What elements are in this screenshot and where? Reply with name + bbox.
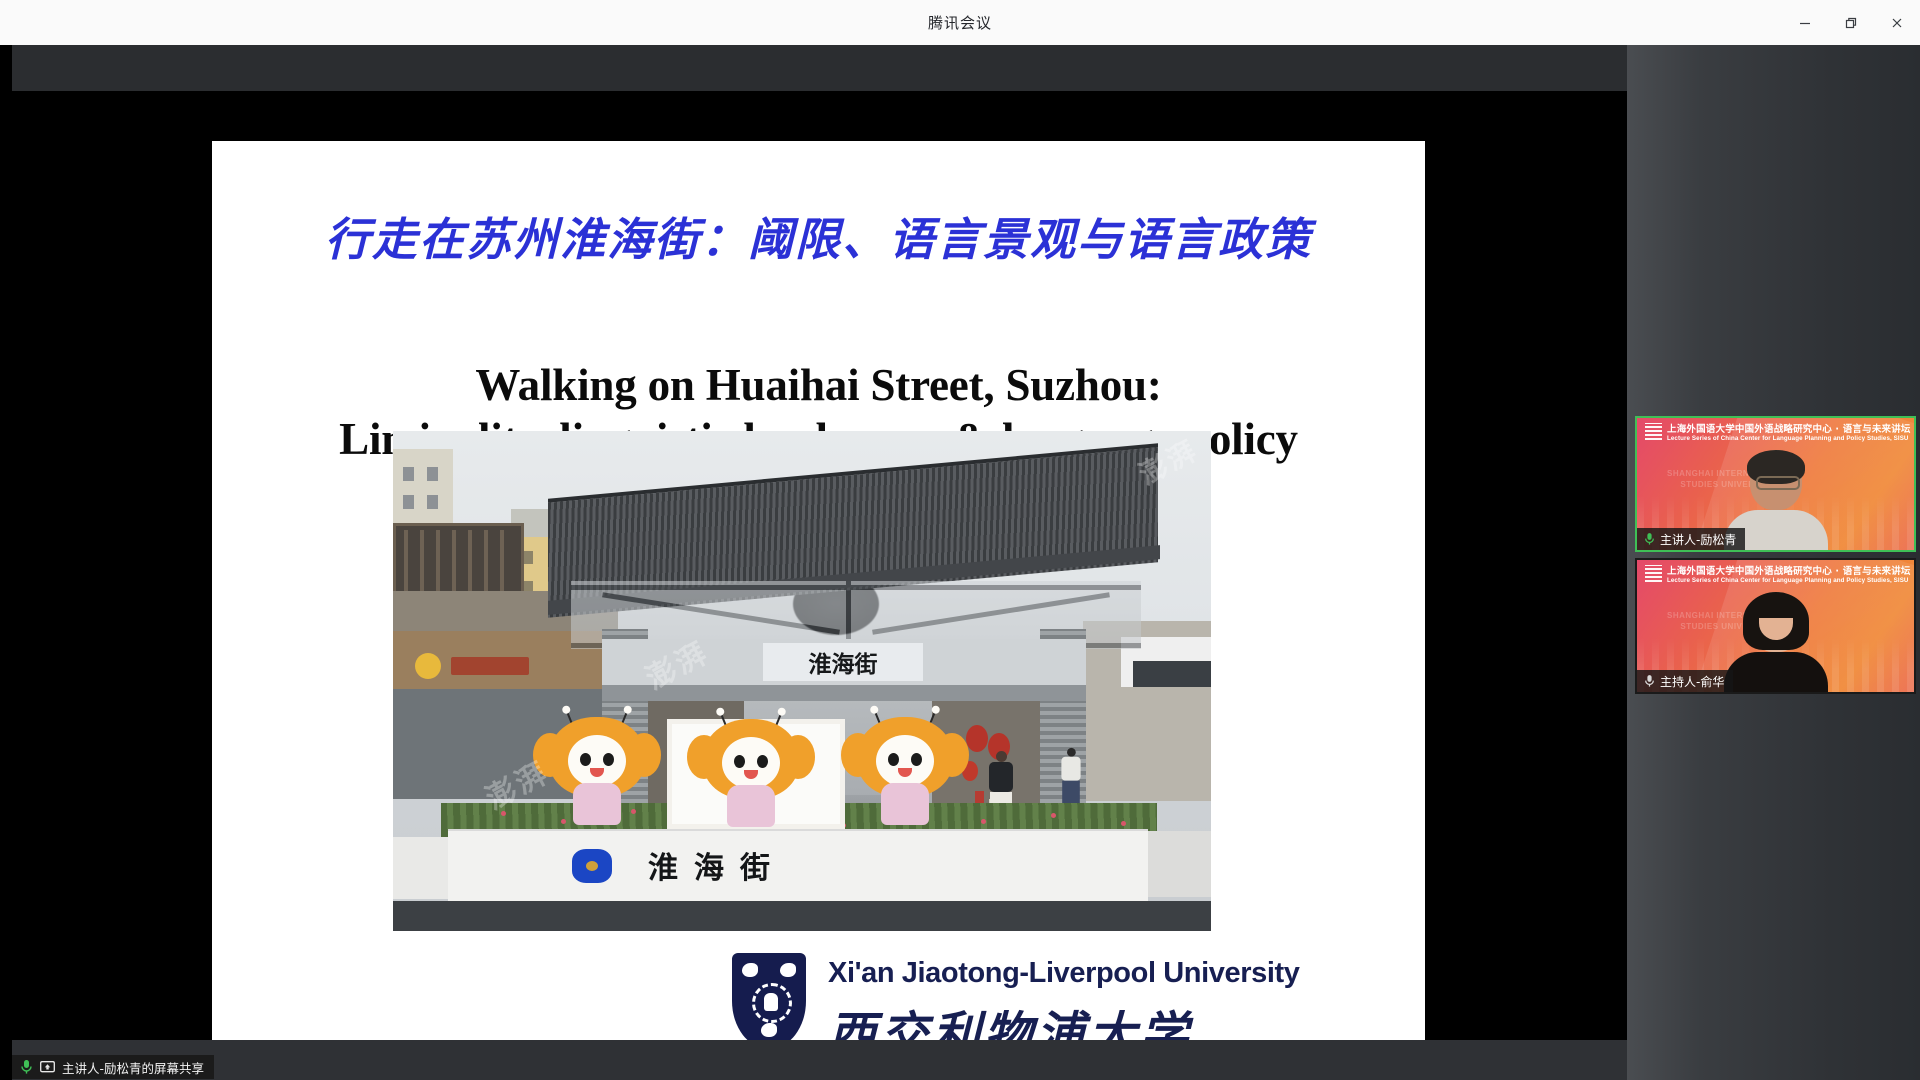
planter-box-left	[393, 837, 455, 899]
tencent-meeting-window: 腾讯会议 行走在苏州	[0, 0, 1920, 1080]
huaihai-street-photo: P	[393, 431, 1211, 931]
shared-content-bottom-band	[12, 1040, 1627, 1080]
university-name-english: Xi'an Jiaotong-Liverpool University	[828, 957, 1299, 990]
red-lantern	[966, 725, 988, 752]
huaihai-street-logo-icon	[572, 849, 612, 883]
gate-sign: 淮海街	[763, 643, 923, 681]
participant-tile-host[interactable]: SHANGHAI INTERNATIONAL STUDIES UNIVERSIT…	[1635, 558, 1916, 694]
participant-name: 主讲人-励松青	[1660, 531, 1736, 548]
meeting-body: 行走在苏州淮海街：阈限、语言景观与语言政策 Walking on Huaihai…	[0, 45, 1920, 1080]
virtual-background-banner: 上海外国语大学中国外语战略研究中心 · 语言与未来讲坛 Lecture Seri…	[1637, 563, 1916, 584]
shop-flower-sign	[415, 653, 441, 679]
screen-share-status-text: 主讲人-励松青的屏幕共享	[62, 1058, 204, 1077]
participant-rail: SHANGHAI INTERNATIONAL STUDIES UNIVERSIT…	[1627, 45, 1920, 1080]
virtual-background-banner: 上海外国语大学中国外语战略研究中心 · 语言与未来讲坛 Lecture Seri…	[1637, 421, 1916, 442]
screen-share-icon	[40, 1061, 55, 1074]
microphone-icon	[1644, 532, 1655, 546]
window-controls	[1782, 0, 1920, 45]
sisu-logo-icon	[1645, 423, 1662, 440]
mascot-character	[857, 717, 953, 825]
presentation-slide: 行走在苏州淮海街：阈限、语言景观与语言政策 Walking on Huaihai…	[212, 141, 1425, 1040]
banner-line-english: Lecture Series of China Center for Langu…	[1667, 577, 1911, 584]
sisu-logo-icon	[1645, 565, 1662, 582]
banner-line-chinese: 上海外国语大学中国外语战略研究中心 · 语言与未来讲坛	[1667, 563, 1911, 577]
window-title: 腾讯会议	[928, 12, 992, 33]
microphone-icon	[20, 1059, 33, 1075]
microphone-icon	[1644, 674, 1655, 688]
shop-name-plate	[451, 657, 529, 675]
minimize-button[interactable]	[1782, 0, 1828, 45]
gate-beam	[602, 685, 1086, 701]
shared-screen-stage[interactable]: 行走在苏州淮海街：阈限、语言景观与语言政策 Walking on Huaihai…	[12, 91, 1627, 1040]
participant-name: 主持人-俞华	[1660, 673, 1724, 690]
participant-video-person	[1724, 592, 1828, 692]
participant-tile-speaker[interactable]: SHANGHAI INTERNATIONAL STUDIES UNIVERSIT…	[1635, 416, 1916, 552]
mascot-character	[549, 717, 645, 825]
planter-box-right	[1145, 831, 1211, 897]
mascot-character	[703, 719, 799, 827]
banner-line-chinese: 上海外国语大学中国外语战略研究中心 · 语言与未来讲坛	[1667, 421, 1911, 435]
window-title-bar: 腾讯会议	[0, 0, 1920, 45]
slide-title-english-line1: Walking on Huaihai Street, Suzhou:	[212, 359, 1425, 411]
participant-nameplate: 主持人-俞华	[1637, 670, 1733, 692]
shared-content-top-band	[12, 45, 1627, 91]
participant-nameplate: 主讲人-励松青	[1637, 528, 1745, 550]
university-logo: Xi'an Jiaotong-Liverpool University 西交利物…	[732, 951, 1292, 1040]
pedestrian	[1061, 748, 1080, 803]
right-shop-awning	[1133, 661, 1211, 687]
road-foreground	[393, 901, 1211, 931]
close-button[interactable]	[1874, 0, 1920, 45]
planter-box-sign: 淮海街	[448, 829, 1148, 903]
screen-share-status: 主讲人-励松青的屏幕共享	[12, 1055, 214, 1079]
shield-icon	[732, 953, 806, 1040]
slide-title-chinese: 行走在苏州淮海街：阈限、语言景观与语言政策	[212, 203, 1425, 268]
university-name-chinese: 西交利物浦大学	[828, 995, 1192, 1040]
banner-line-english: Lecture Series of China Center for Langu…	[1667, 435, 1911, 442]
planter-sign-text: 淮海街	[648, 843, 786, 887]
wooden-louver-facade	[393, 523, 524, 599]
restore-button[interactable]	[1828, 0, 1874, 45]
